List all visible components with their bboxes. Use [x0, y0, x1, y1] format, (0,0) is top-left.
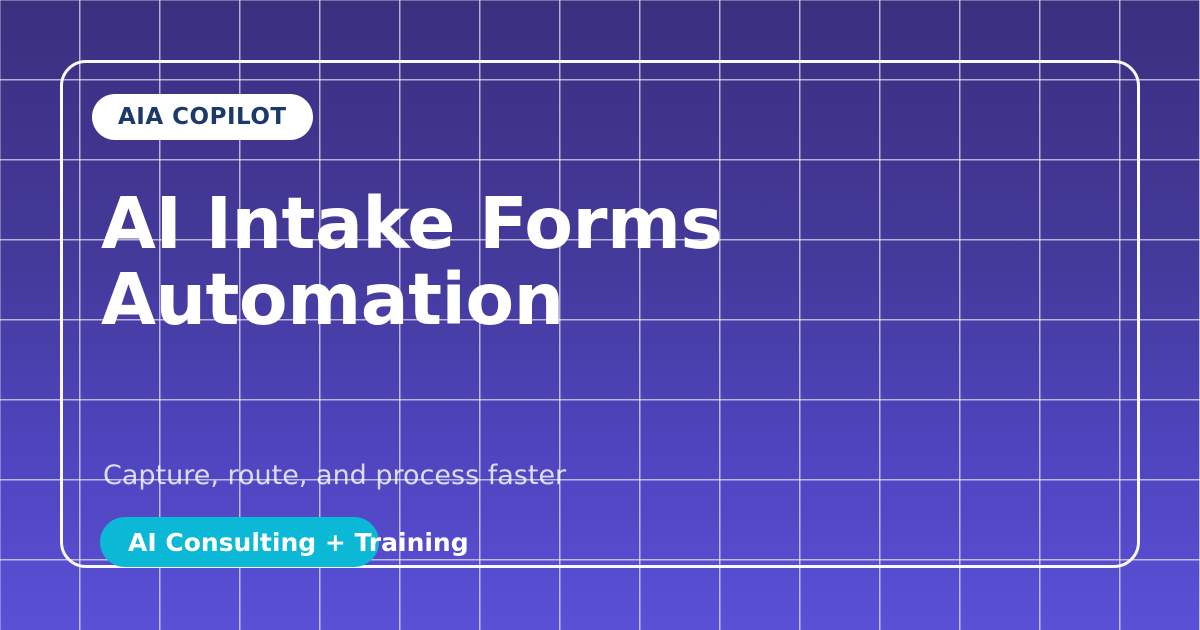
eyebrow-badge-label: AIA COPILOT: [118, 106, 287, 129]
hero-banner: AIA COPILOT AI Intake Forms Automation C…: [0, 0, 1200, 630]
eyebrow-badge: AIA COPILOT: [92, 94, 313, 140]
cta-button-label: AI Consulting + Training: [128, 517, 469, 567]
subtitle-text: Capture, route, and process faster: [103, 459, 566, 493]
banner-content: AIA COPILOT AI Intake Forms Automation C…: [0, 0, 1200, 630]
page-title: AI Intake Forms Automation: [101, 186, 741, 338]
